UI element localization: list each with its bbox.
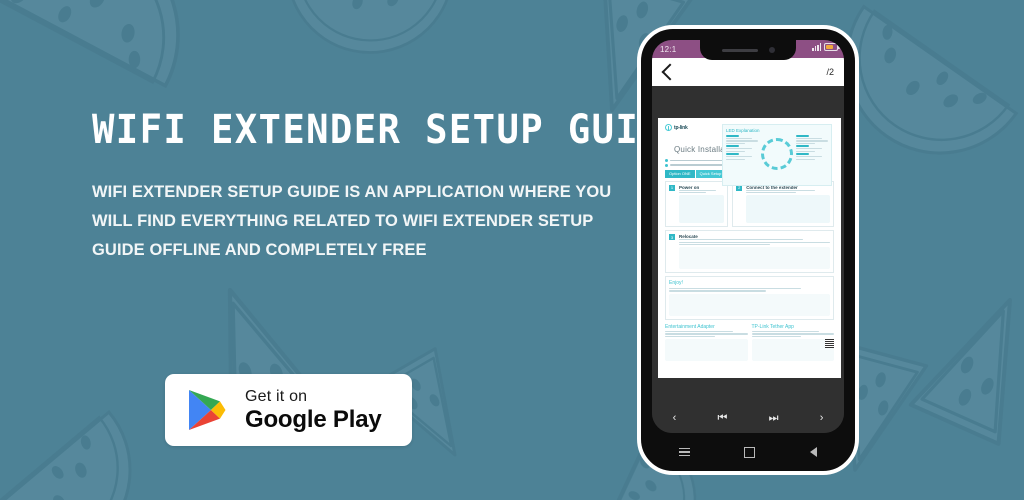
section-title: Entertainment Adapter	[665, 324, 748, 330]
android-nav-bar	[652, 439, 844, 465]
status-icons	[812, 43, 838, 51]
phone-notch	[700, 40, 796, 60]
home-icon[interactable]	[744, 447, 755, 458]
step-illustration	[679, 195, 724, 223]
step-illustration	[746, 195, 830, 223]
front-camera	[769, 47, 775, 53]
document-footer-sections: Entertainment Adapter TP-Link Tether App	[665, 324, 834, 362]
signal-icon	[812, 43, 821, 51]
viewer-toolbar: ‹ ⏮ ⏭ ›	[652, 403, 844, 433]
led-explanation-panel: LED Explanation	[722, 124, 832, 186]
google-play-badge[interactable]: Get it on Google Play	[165, 374, 412, 446]
tplink-brand: tp-link	[674, 125, 688, 131]
led-col-right	[796, 135, 828, 170]
step-card-relocate: 3 Relocate	[665, 230, 834, 273]
phone-mockup: 12:1 /2 tp-link	[637, 25, 859, 475]
page-indicator: /2	[826, 67, 834, 77]
prev-page-button[interactable]: ‹	[673, 413, 677, 424]
led-panel-columns	[726, 135, 828, 170]
adapter-illustration	[665, 339, 748, 361]
led-ring-icon	[761, 138, 793, 170]
step-card-connect: 2 Connect to the extender	[732, 181, 834, 228]
tplink-logo: tp-link	[665, 124, 688, 131]
tether-illustration	[752, 339, 835, 361]
entertainment-adapter-section: Entertainment Adapter	[665, 324, 748, 362]
phone-screen: 12:1 /2 tp-link	[652, 40, 844, 433]
google-play-icon	[187, 388, 227, 432]
step-number: 3	[669, 234, 675, 240]
led-panel-title: LED Explanation	[726, 128, 828, 133]
status-time: 12:1	[660, 45, 676, 54]
step-title: Power on	[679, 185, 724, 190]
battery-icon	[824, 43, 838, 51]
app-bar: /2	[652, 58, 844, 86]
enjoy-title: Enjoy!	[669, 280, 830, 286]
step-card-power-on: 1 Power on	[665, 181, 728, 228]
recents-icon[interactable]	[679, 448, 690, 456]
section-title: TP-Link Tether App	[752, 324, 835, 330]
first-page-button[interactable]: ⏮	[717, 413, 727, 424]
hero-copy: WIFI EXTENDER SETUP GUIDE WIFI EXTENDER …	[92, 108, 622, 265]
speaker-grille	[722, 49, 758, 52]
promo-banner: WIFI EXTENDER SETUP GUIDE WIFI EXTENDER …	[0, 0, 1024, 500]
relocate-illustration	[679, 247, 830, 269]
hero-description: WIFI EXTENDER SETUP GUIDE IS AN APPLICAT…	[92, 178, 612, 265]
steps-row-1: 1 Power on 2 Connect to the extender	[665, 181, 834, 228]
step-number: 1	[669, 185, 675, 191]
play-badge-text: Get it on Google Play	[245, 389, 382, 432]
tab-option-one: Option ONE	[665, 170, 695, 178]
document-page[interactable]: tp-link Quick Installation Guide LED Exp…	[658, 118, 841, 378]
page-title: WIFI EXTENDER SETUP GUIDE	[92, 108, 585, 152]
play-badge-line1: Get it on	[245, 389, 382, 405]
enjoy-card: Enjoy!	[665, 276, 834, 319]
document-viewer[interactable]: tp-link Quick Installation Guide LED Exp…	[652, 86, 844, 403]
led-col-mid	[761, 135, 793, 170]
led-col-left	[726, 135, 758, 170]
last-page-button[interactable]: ⏭	[769, 413, 779, 424]
tether-app-section: TP-Link Tether App	[752, 324, 835, 362]
next-page-button[interactable]: ›	[820, 413, 824, 424]
tplink-mark-icon	[665, 124, 672, 131]
play-badge-line2: Google Play	[245, 408, 382, 432]
back-nav-icon[interactable]	[810, 447, 817, 457]
enjoy-illustration	[669, 294, 830, 316]
qr-code-icon	[825, 339, 834, 348]
back-icon[interactable]	[662, 64, 679, 81]
